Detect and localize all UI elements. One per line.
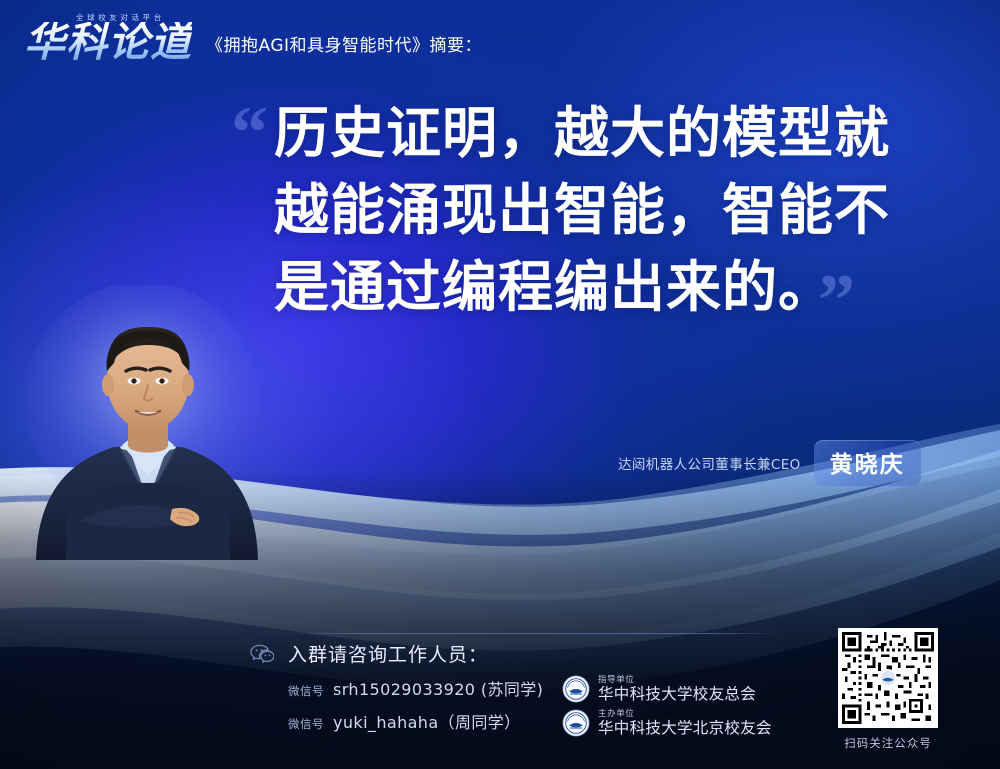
page-title: 《拥抱AGI和具身智能时代》摘要：	[206, 31, 482, 63]
contact-value: srh15029033920 (苏同学)	[333, 676, 543, 700]
poster-canvas: 全球校友对话平台 华科论道 《拥抱AGI和具身智能时代》摘要： “ 历史证明，越…	[0, 0, 1000, 769]
footer-divider	[288, 633, 780, 634]
contact-title: 入群请咨询工作人员：	[288, 640, 488, 667]
quote-open-mark: “	[231, 96, 268, 170]
qr-caption: 扫码关注公众号	[838, 735, 938, 751]
quote-line: 历史证明，越大的模型就	[274, 95, 954, 172]
brand-logo[interactable]: 全球校友对话平台 华科论道	[24, 14, 192, 63]
contact-label: 微信号	[288, 683, 324, 699]
organization-row: 主办单位 华中科技大学北京校友会	[562, 706, 772, 740]
speaker-portrait	[22, 285, 272, 560]
qr-code-icon[interactable]	[838, 628, 938, 728]
organizations-list: 指导单位 华中科技大学校友总会 主办单位 华中科技大学北京校友会	[562, 672, 772, 740]
organization-name: 华中科技大学校友总会	[598, 687, 756, 703]
logo-wordmark: 华科论道	[24, 22, 192, 63]
organization-text: 指导单位 华中科技大学校友总会	[598, 676, 756, 702]
speaker-attribution: 达闼机器人公司董事长兼CEO 黄晓庆	[618, 440, 921, 486]
organization-text: 主办单位 华中科技大学北京校友会	[598, 710, 772, 736]
quote-close-mark: ”	[818, 264, 855, 338]
hust-emblem-icon	[562, 675, 590, 703]
organization-kind: 指导单位	[598, 676, 756, 685]
speaker-name-badge: 黄晓庆	[814, 440, 921, 486]
contact-label: 微信号	[288, 716, 324, 732]
logo-tagline: 全球校友对话平台	[76, 12, 165, 23]
header: 全球校友对话平台 华科论道 《拥抱AGI和具身智能时代》摘要：	[24, 14, 482, 63]
organization-kind: 主办单位	[598, 710, 772, 719]
qr-section: 扫码关注公众号	[838, 628, 938, 751]
quote-line: 越能涌现出智能，智能不	[274, 172, 954, 249]
organization-name: 华中科技大学北京校友会	[598, 721, 772, 737]
organization-row: 指导单位 华中科技大学校友总会	[562, 672, 772, 706]
speaker-role: 达闼机器人公司董事长兼CEO	[618, 453, 801, 473]
contact-value: yuki_hahaha（周同学）	[333, 709, 521, 733]
wechat-icon	[250, 644, 274, 664]
hust-emblem-icon	[562, 709, 590, 737]
